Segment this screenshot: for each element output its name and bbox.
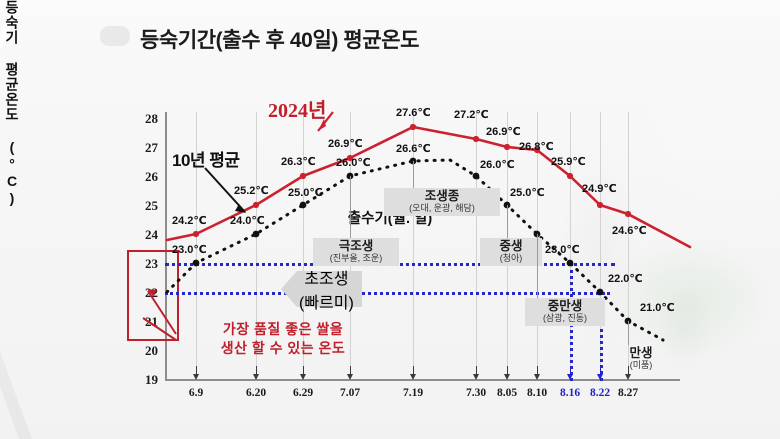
arrow-10yr-head <box>235 204 246 213</box>
variety-box-josaengjong: 조생종 (오대, 운광, 해담) <box>384 188 500 216</box>
label-2024-7-30: 27.2℃ <box>454 108 489 121</box>
label-2024-8-16: 25.9℃ <box>551 155 586 168</box>
chart-stage: 등숙기간(출수 후 40일) 평균온도 등숙기 평균온도 (°C) 출수기(월.… <box>0 0 780 439</box>
tick-arrow-7-07 <box>346 366 355 380</box>
variety-box-mansaeng: 만생 (미품) <box>613 345 669 373</box>
variety-stem-geukjosaeng <box>350 176 351 238</box>
variety-box-jungmansaeng: 중만생 (삼광, 진동) <box>525 298 605 326</box>
variety-stem-jungsaeng <box>507 205 508 238</box>
variety-box-geukjosaeng: 극조생 (진부올, 조운) <box>313 238 399 266</box>
label-avg-8-16: 23.0℃ <box>545 243 580 256</box>
variety-stem-jungmansaeng <box>537 234 538 298</box>
variety-name: 극조생 <box>317 240 395 254</box>
variety-name: 만생 <box>617 347 665 361</box>
tick-arrow-8-16 <box>566 366 575 380</box>
variety-cultivars: (진부올, 조운) <box>317 254 395 263</box>
optimal-temperature-note: 가장 품질 좋은 쌀을 생산 할 수 있는 온도 <box>178 320 388 358</box>
x-tick-6-9: 6.9 <box>176 387 216 399</box>
x-tick-6-29: 6.29 <box>283 387 323 399</box>
note-line-2: 생산 할 수 있는 온도 <box>178 339 388 358</box>
note-line-1: 가장 품질 좋은 쌀을 <box>178 320 388 339</box>
series-label-10yr-average: 10년 평균 <box>172 146 240 171</box>
variety-box-chojosaeng: 초조생 (빠르미) <box>281 271 362 307</box>
label-2024-8-10: 26.8℃ <box>519 140 554 153</box>
variety-cultivars: (빠르미) <box>299 289 354 313</box>
x-tick-6-20: 6.20 <box>236 387 276 399</box>
variety-arrow-head-icon <box>281 271 297 307</box>
series-label-2024: 2024년 <box>268 94 326 123</box>
x-tick-8-27: 8.27 <box>608 387 648 399</box>
tick-arrow-6-20 <box>252 366 261 380</box>
label-2024-8-05: 26.9℃ <box>486 125 521 138</box>
tick-arrow-6-9 <box>192 366 201 380</box>
label-2024-6-9: 24.2℃ <box>172 214 207 227</box>
tick-arrow-7-19 <box>409 366 418 380</box>
label-2024-8-22: 24.9℃ <box>582 182 617 195</box>
tick-arrow-8-05 <box>503 366 512 380</box>
variety-name: 중생 <box>484 240 538 254</box>
variety-cultivars: (삼광, 진동) <box>529 314 601 323</box>
label-avg-8-22: 22.0℃ <box>608 272 643 285</box>
label-avg-7-19: 26.6℃ <box>396 142 431 155</box>
x-tick-7-19: 7.19 <box>393 387 433 399</box>
tick-arrow-7-30 <box>472 366 481 380</box>
series-curves <box>0 0 780 439</box>
tick-arrow-8-27 <box>624 366 633 380</box>
tick-arrow-8-22 <box>596 366 605 380</box>
variety-name: 조생종 <box>388 190 496 204</box>
arrow-note-upper <box>148 291 176 334</box>
label-avg-6-9: 23.0℃ <box>172 243 207 256</box>
label-2024-6-20: 25.2℃ <box>234 184 269 197</box>
label-2024-7-07: 26.9℃ <box>328 137 363 150</box>
label-2024-6-29: 26.3℃ <box>281 155 316 168</box>
tick-arrow-6-29 <box>299 366 308 380</box>
label-2024-7-19: 27.6℃ <box>396 106 431 119</box>
variety-name: 중만생 <box>529 300 601 314</box>
x-tick-7-07: 7.07 <box>330 387 370 399</box>
label-avg-8-05: 26.0℃ <box>480 158 515 171</box>
label-avg-7-07: 26.0℃ <box>336 156 371 169</box>
tick-arrow-8-10 <box>533 366 542 380</box>
label-2024-8-27: 24.6℃ <box>612 224 647 237</box>
arrow-note-lower <box>143 318 176 340</box>
label-avg-8-27: 21.0℃ <box>640 301 675 314</box>
variety-stem-josaengjong <box>413 161 414 188</box>
label-avg-6-29: 25.0℃ <box>288 186 323 199</box>
variety-box-jungsaeng: 중생 (청아) <box>480 238 542 266</box>
variety-name: 초조생 <box>304 265 348 289</box>
variety-cultivars: (오대, 운광, 해담) <box>388 204 496 213</box>
label-avg-8-10: 25.0℃ <box>510 186 545 199</box>
variety-cultivars: (청아) <box>484 254 538 263</box>
label-avg-6-20: 24.0℃ <box>230 214 265 227</box>
variety-stem-mansaeng <box>628 321 629 345</box>
